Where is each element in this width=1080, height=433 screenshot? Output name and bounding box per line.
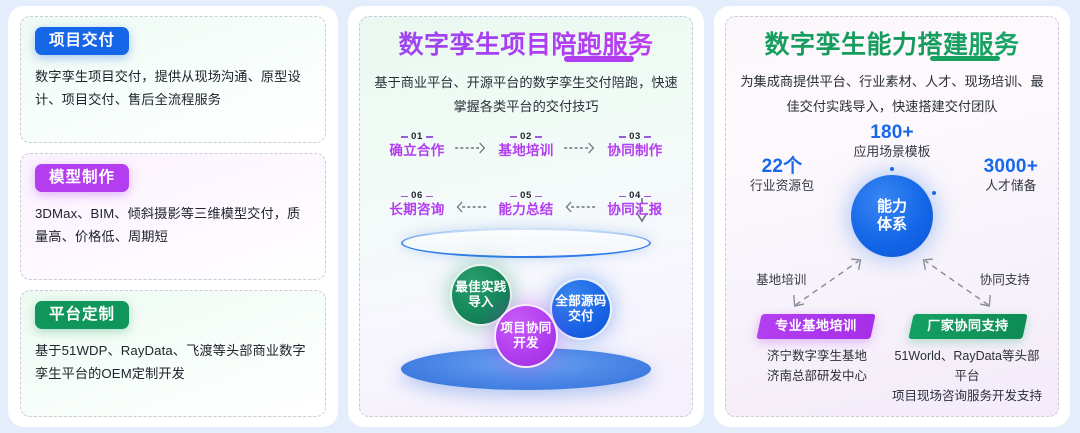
core-capability-line1: 能力: [877, 198, 907, 216]
tag-vendor-collaborative-support-label: 厂家协同支持: [927, 318, 1009, 334]
right-card: 数字孪生能力搭建服务 为集成商提供平台、行业素材、人才、现场培训、最佳交付实践导…: [714, 6, 1070, 427]
capability-stats-graphic: 180+ 应用场景模板 22个 行业资源包 3000+ 人才储备 能力: [740, 123, 1044, 261]
capability-tag-descriptions: 济宁数字孪生基地 济南总部研发中心 51World、RayData等头部平台 项…: [740, 346, 1044, 406]
stat-talent-pool-label: 人才储备: [984, 178, 1038, 195]
flow-arrow-right-2: [563, 140, 598, 156]
flow-row-top: 01 确立合作 02 基地培训: [374, 126, 678, 159]
flow-step-02-number: 02: [511, 132, 541, 142]
middle-dashed-box: 数字孪生项目陪跑服务 基于商业平台、开源平台的数字孪生交付陪跑，快速掌握各类平台…: [359, 16, 693, 417]
badge-platform-customization: 平台定制: [35, 301, 129, 329]
left-section-model-production: 模型制作 3DMax、BIM、倾斜摄影等三维模型交付，质量高、价格低、周期短: [20, 153, 326, 280]
left-section-project-delivery: 项目交付 数字孪生项目交付，提供从现场沟通、原型设计、项目交付、售后全流程服务: [20, 16, 326, 143]
stat-industry-resource-packs: 22个 行业资源包: [750, 157, 814, 195]
connector-dot-top-icon: [890, 167, 894, 171]
sphere-collaborative-development: 项目协同 开发: [494, 304, 558, 368]
arrow-label-collaborative-support: 协同支持: [980, 269, 1030, 288]
right-panel-subtitle: 为集成商提供平台、行业素材、人才、现场培训、最佳交付实践导入，快速搭建交付团队: [740, 70, 1044, 119]
flow-step-05-label: 能力总结: [489, 203, 563, 218]
flow-step-05-number: 05: [511, 191, 541, 201]
tag-desc-vendor-support-line1: 51World、RayData等头部平台: [892, 346, 1042, 386]
flow-step-06: 06 长期咨询: [380, 185, 454, 218]
sphere-best-practice-line2: 导入: [455, 295, 506, 310]
sphere-full-source-code-line1: 全部源码: [555, 294, 606, 309]
sphere-full-source-code: 全部源码 交付: [550, 278, 612, 340]
tag-desc-base-training: 济宁数字孪生基地 济南总部研发中心: [742, 346, 892, 406]
flow-arrow-right-1: [454, 140, 489, 156]
tag-desc-vendor-support: 51World、RayData等头部平台 项目现场咨询服务开发支持: [892, 346, 1042, 406]
stat-industry-resource-packs-value: 22个: [750, 157, 814, 177]
connector-dot-right-icon: [932, 191, 936, 195]
flow-row-bottom: 06 长期咨询 05 能力总结: [374, 185, 678, 218]
left-section-stack: 项目交付 数字孪生项目交付，提供从现场沟通、原型设计、项目交付、售后全流程服务 …: [20, 16, 326, 417]
flow-step-03-number: 03: [620, 132, 650, 142]
middle-panel-subtitle: 基于商业平台、开源平台的数字孪生交付陪跑，快速掌握各类平台的交付技巧: [374, 71, 678, 120]
flow-step-01-label: 确立合作: [380, 144, 454, 159]
right-panel-title: 数字孪生能力搭建服务: [740, 31, 1044, 60]
stat-scene-templates-value: 180+: [854, 123, 931, 143]
flow-step-05: 05 能力总结: [489, 185, 563, 218]
left-section-platform-customization: 平台定制 基于51WDP、RayData、飞渡等头部商业数字孪生平台的OEM定制…: [20, 290, 326, 417]
left-section-desc-3: 基于51WDP、RayData、飞渡等头部商业数字孪生平台的OEM定制开发: [35, 339, 311, 385]
sphere-collaborative-development-line1: 项目协同: [500, 321, 551, 336]
badge-project-delivery: 项目交付: [35, 27, 129, 55]
tag-vendor-collaborative-support: 厂家协同支持: [909, 314, 1028, 339]
flow-step-04-label: 协同汇报: [598, 203, 672, 218]
tag-desc-base-training-line1: 济宁数字孪生基地: [742, 346, 892, 366]
flow-step-03-label: 协同制作: [598, 144, 672, 159]
process-flow-diagram: 01 确立合作 02 基地培训: [374, 126, 678, 219]
stat-talent-pool: 3000+ 人才储备: [984, 157, 1038, 195]
poster-stage: 项目交付 数字孪生项目交付，提供从现场沟通、原型设计、项目交付、售后全流程服务 …: [0, 0, 1080, 433]
flow-step-01: 01 确立合作: [380, 126, 454, 159]
flow-step-02-label: 基地培训: [489, 144, 563, 159]
middle-card: 数字孪生项目陪跑服务 基于商业平台、开源平台的数字孪生交付陪跑，快速掌握各类平台…: [348, 6, 704, 427]
flow-step-04: 04 协同汇报: [598, 185, 672, 218]
left-card: 项目交付 数字孪生项目交付，提供从现场沟通、原型设计、项目交付、售后全流程服务 …: [8, 6, 338, 427]
flow-arrow-down-wrap: [374, 159, 678, 185]
flow-step-01-number: 01: [402, 132, 432, 142]
middle-sphere-graphic: 最佳实践 导入 全部源码 交付 项目协同 开发: [374, 222, 678, 406]
badge-model-production: 模型制作: [35, 164, 129, 192]
tag-desc-vendor-support-line2: 项目现场咨询服务开发支持: [892, 386, 1042, 406]
stat-scene-templates: 180+ 应用场景模板: [854, 123, 931, 161]
left-section-desc-2: 3DMax、BIM、倾斜摄影等三维模型交付，质量高、价格低、周期短: [35, 202, 311, 248]
flow-step-06-number: 06: [402, 191, 432, 201]
flow-arrow-left-1: [454, 199, 489, 215]
core-capability-circle: 能力 体系: [851, 175, 933, 257]
tag-professional-base-training: 专业基地培训: [757, 314, 876, 339]
flow-step-03: 03 协同制作: [598, 126, 672, 159]
capability-tag-row: 专业基地培训 厂家协同支持: [740, 314, 1044, 339]
flow-step-02: 02 基地培训: [489, 126, 563, 159]
middle-panel-title: 数字孪生项目陪跑服务: [374, 31, 678, 60]
sphere-best-practice-line1: 最佳实践: [455, 280, 506, 295]
stat-industry-resource-packs-label: 行业资源包: [750, 178, 814, 195]
left-section-desc-1: 数字孪生项目交付，提供从现场沟通、原型设计、项目交付、售后全流程服务: [35, 65, 311, 111]
tag-professional-base-training-label: 专业基地培训: [775, 318, 857, 334]
sphere-collaborative-development-line2: 开发: [500, 336, 551, 351]
flow-step-06-label: 长期咨询: [380, 203, 454, 218]
flow-step-04-number: 04: [620, 191, 650, 201]
flow-arrow-left-2: [563, 199, 598, 215]
right-dashed-box: 数字孪生能力搭建服务 为集成商提供平台、行业素材、人才、现场培训、最佳交付实践导…: [725, 16, 1059, 417]
stat-talent-pool-value: 3000+: [984, 157, 1038, 177]
orbit-ring-icon: [401, 228, 651, 258]
capability-arrows: 基地培训 协同支持: [740, 255, 1044, 312]
core-capability-line2: 体系: [877, 216, 907, 234]
sphere-full-source-code-line2: 交付: [555, 309, 606, 324]
arrow-label-base-training: 基地培训: [756, 269, 806, 288]
stat-scene-templates-label: 应用场景模板: [854, 144, 931, 161]
tag-desc-base-training-line2: 济南总部研发中心: [742, 366, 892, 386]
